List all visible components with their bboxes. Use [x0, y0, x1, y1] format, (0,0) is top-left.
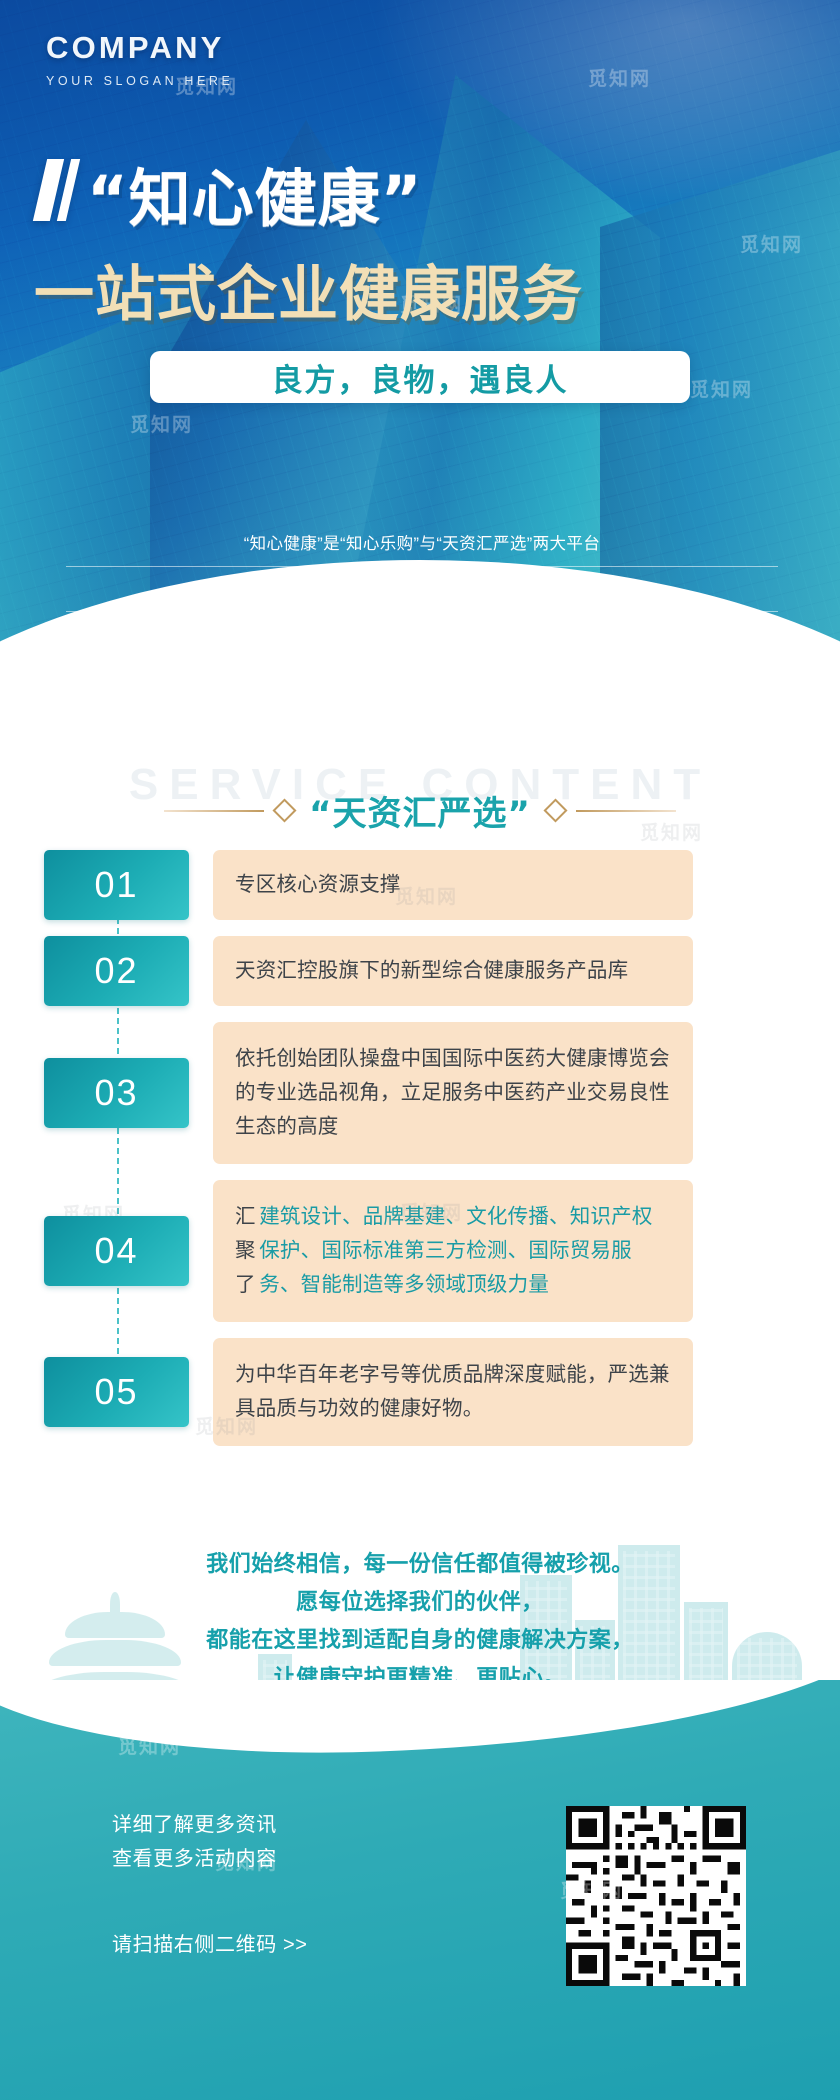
- item-number-badge: 02: [44, 936, 189, 1006]
- service-section-title: “天资汇严选”: [309, 786, 531, 835]
- footer-text-block: 详细了解更多资讯 查看更多活动内容: [112, 1808, 277, 1876]
- item-text: 天资汇控股旗下的新型综合健康服务产品库: [213, 936, 693, 1006]
- hero-title-main: “知心健康”: [87, 148, 423, 238]
- footer-scan-prompt: 请扫描右侧二维码 >>: [112, 1928, 308, 1957]
- list-item[interactable]: 01 专区核心资源支撑: [0, 850, 840, 920]
- hero-title-sub: 一站式企业健康服务: [0, 246, 840, 333]
- item-text-accent: 建筑设计、品牌基建、文化传播、知识产权保护、国际标准第三方检测、国际贸易服务、智…: [259, 1200, 671, 1302]
- header-line-left: [164, 810, 264, 812]
- service-section: SERVICE CONTENT “天资汇严选” 01 专区核心资源支撑 02 天…: [0, 700, 840, 1550]
- service-item-list: 01 专区核心资源支撑 02 天资汇控股旗下的新型综合健康服务产品库 03 依托…: [0, 850, 840, 1462]
- hero-section: 觅知网 觅知网 觅知网 觅知网 觅知网 觅知网 觅知网 COMPANY YOUR…: [0, 0, 840, 700]
- item-text: 专区核心资源支撑: [213, 850, 693, 920]
- hero-slogan-text: 良方，良物，遇良人: [272, 355, 569, 400]
- item-text: 依托创始团队操盘中国国际中医药大健康博览会的专业选品视角，立足服务中医药产业交易…: [213, 1022, 693, 1164]
- footer-line-2: 查看更多活动内容: [112, 1842, 277, 1876]
- hero-title-row-main: “知心健康”: [0, 148, 840, 238]
- list-item[interactable]: 05 为中华百年老字号等优质品牌深度赋能，严选兼具品质与功效的健康好物。: [0, 1338, 840, 1446]
- item-number-badge: 05: [44, 1357, 189, 1427]
- item-number-badge: 04: [44, 1216, 189, 1286]
- footer-wave-divider: [0, 1680, 840, 1767]
- footer-section: 详细了解更多资讯 查看更多活动内容 请扫描右侧二维码 >>: [0, 1680, 840, 2100]
- hero-slogan-bar: 良方，良物，遇良人: [150, 351, 690, 403]
- service-section-header: “天资汇严选”: [0, 786, 840, 835]
- diamond-icon: [543, 798, 567, 822]
- footer-line-1: 详细了解更多资讯: [112, 1808, 277, 1842]
- closing-line: 都能在这里找到适配自身的健康解决方案，: [0, 1621, 840, 1659]
- diamond-icon: [273, 798, 297, 822]
- item-text: 为中华百年老字号等优质品牌深度赋能，严选兼具品质与功效的健康好物。: [213, 1338, 693, 1446]
- hero-title-block: “知心健康” 一站式企业健康服务 良方，良物，遇良人: [0, 148, 840, 403]
- list-item[interactable]: 03 依托创始团队操盘中国国际中医药大健康博览会的专业选品视角，立足服务中医药产…: [0, 1022, 840, 1164]
- closing-line: 愿每位选择我们的伙伴，: [0, 1583, 840, 1621]
- header-line-right: [576, 810, 676, 812]
- closing-line: 我们始终相信，每一份信任都值得被珍视。: [0, 1545, 840, 1583]
- item-number-badge: 03: [44, 1058, 189, 1128]
- item-text: 汇聚了建筑设计、品牌基建、文化传播、知识产权保护、国际标准第三方检测、国际贸易服…: [213, 1180, 693, 1322]
- item-number-badge: 01: [44, 850, 189, 920]
- list-item[interactable]: 02 天资汇控股旗下的新型综合健康服务产品库: [0, 936, 840, 1006]
- qr-code-image: [566, 1806, 746, 1986]
- company-name: COMPANY: [46, 30, 234, 66]
- poster-root: 觅知网 觅知网 觅知网 觅知网 觅知网 觅知网 觅知网 COMPANY YOUR…: [0, 0, 840, 2100]
- list-item[interactable]: 04 汇聚了建筑设计、品牌基建、文化传播、知识产权保护、国际标准第三方检测、国际…: [0, 1180, 840, 1322]
- company-slogan: YOUR SLOGAN HERE: [46, 74, 234, 88]
- item-text-prefix: 汇聚了: [235, 1200, 259, 1302]
- qr-code[interactable]: [566, 1806, 746, 1986]
- slash-decoration-icon: [40, 159, 73, 221]
- brand-block: COMPANY YOUR SLOGAN HERE: [46, 30, 234, 88]
